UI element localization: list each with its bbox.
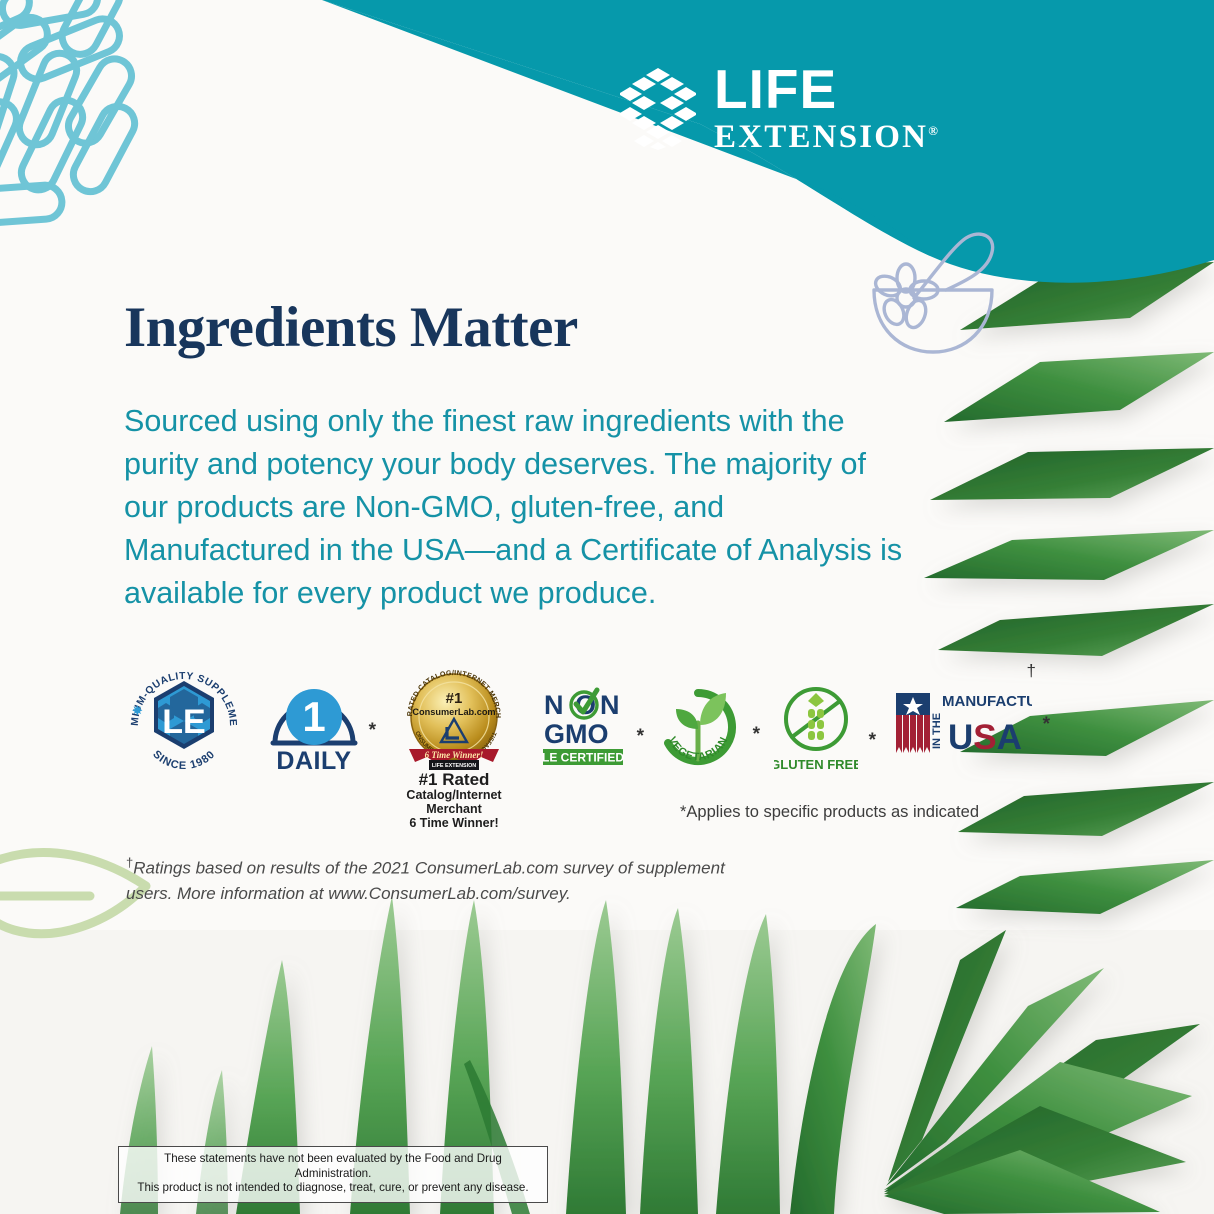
gluten-free-label: GLUTEN FREE — [774, 757, 858, 772]
consumerlab-rank: #1 — [446, 690, 463, 707]
brand-name-life: LIFE — [714, 62, 938, 117]
non-gmo-line2: GMO — [544, 719, 609, 749]
consumerlab-ribbon-sub: LIFE EXTENSION — [432, 763, 476, 769]
badge-manufactured-usa: MANUFACTURED IN THE USA * — [858, 665, 1032, 765]
svg-text:N: N — [600, 690, 620, 720]
usa-line1: MANUFACTURED — [942, 693, 1032, 710]
page-title: Ingredients Matter — [124, 295, 578, 360]
le-initials: LE — [162, 703, 205, 741]
consumerlab-caption-line2: Catalog/Internet Merchant — [406, 788, 501, 816]
asterisk-usa: * — [1043, 715, 1050, 734]
gluten-free-icon: GLUTEN FREE — [774, 681, 858, 773]
fda-disclaimer-box: These statements have not been evaluated… — [118, 1146, 548, 1203]
applies-footnote: *Applies to specific products as indicat… — [680, 803, 979, 822]
marketing-banner: LIFE EXTENSION® Ingredients Matter Sourc… — [0, 0, 1214, 1214]
mortar-pestle-flower-doodle-icon — [850, 228, 1030, 358]
consumerlab-caption-line3: 6 Time Winner! — [409, 816, 498, 830]
non-gmo-line1: N — [544, 690, 564, 720]
asterisk-one-daily: * — [369, 721, 376, 740]
consumerlab-caption-line1: #1 Rated — [394, 773, 514, 787]
badge-gluten-free: GLUTEN FREE * — [740, 665, 858, 773]
capsule-pills-doodle-icon — [0, 0, 226, 242]
consumerlab-seal-icon: TOP RATED CATALOG/INTERNET MERCHANT CONS… — [403, 665, 505, 771]
badge-vegetarian: VEGETARIAN * — [626, 665, 740, 769]
le-seal-icon: LE PREMIUM-QUALITY SUPPLEMENTS SINCE 198… — [126, 665, 242, 781]
one-daily-label: DAILY — [276, 747, 351, 773]
consumerlab-site: ConsumerLab.com — [412, 707, 495, 717]
consumerlab-ribbon: 6 Time Winner! — [425, 750, 484, 760]
body-copy: Sourced using only the finest raw ingred… — [124, 400, 904, 615]
vegetarian-icon: VEGETARIAN — [656, 685, 740, 769]
le-seal-arc-bottom: SINCE 1980 — [150, 748, 217, 772]
fda-disclaimer-line2: This product is not intended to diagnose… — [125, 1181, 541, 1196]
one-daily-number: 1 — [302, 693, 325, 740]
one-daily-icon: 1 DAILY — [268, 673, 360, 773]
brand-logo[interactable]: LIFE EXTENSION® — [620, 62, 938, 154]
brand-name-extension: EXTENSION® — [714, 121, 938, 154]
badge-non-gmo: N O N GMO LE CERTIFIED * — [514, 665, 626, 767]
registered-trademark-icon: ® — [928, 123, 938, 138]
badge-one-daily: 1 DAILY * — [242, 665, 360, 773]
usa-line3: USA — [948, 718, 1022, 757]
non-gmo-icon: N O N GMO LE CERTIFIED — [542, 687, 626, 767]
ratings-footnote: †Ratings based on results of the 2021 Co… — [126, 850, 766, 906]
brand-wordmark: LIFE EXTENSION® — [714, 62, 938, 154]
badge-consumerlab: TOP RATED CATALOG/INTERNET MERCHANT CONS… — [394, 665, 514, 830]
manufactured-usa-icon: MANUFACTURED IN THE USA — [892, 689, 1032, 765]
fda-disclaimer-line1: These statements have not been evaluated… — [125, 1152, 541, 1181]
ratings-footnote-text: Ratings based on results of the 2021 Con… — [126, 859, 725, 903]
usa-line2: IN THE — [931, 713, 943, 749]
non-gmo-certified: LE CERTIFIED — [542, 751, 624, 765]
hexagon-lattice-icon — [620, 66, 696, 150]
badge-le-premium-quality: LE PREMIUM-QUALITY SUPPLEMENTS SINCE 198… — [126, 665, 242, 781]
consumerlab-caption: #1 Rated Catalog/Internet Merchant 6 Tim… — [394, 773, 514, 830]
